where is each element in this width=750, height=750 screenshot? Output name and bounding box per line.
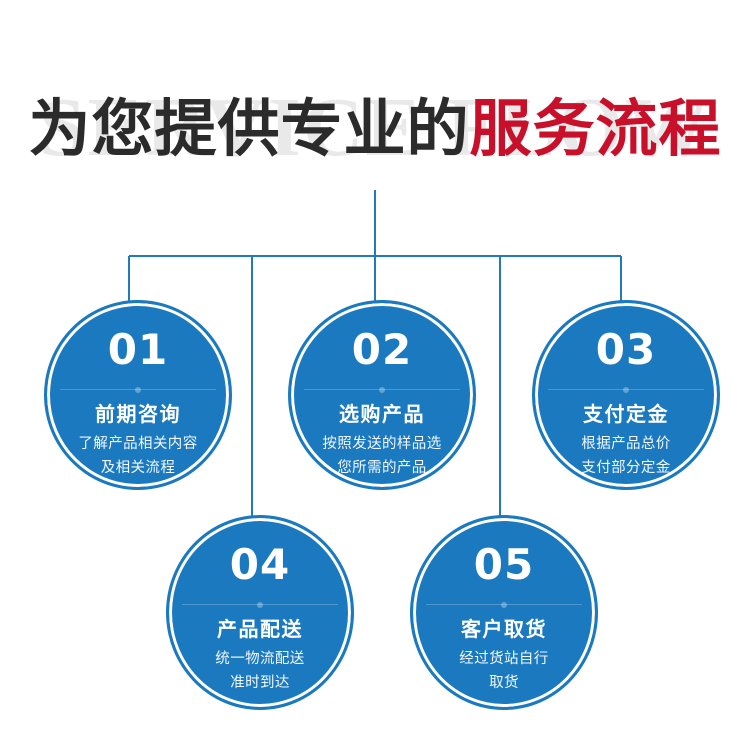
step-number: 01 bbox=[108, 329, 168, 371]
step-number: 02 bbox=[352, 329, 412, 371]
service-flow-infographic: SERVICE FLOW 为您提供专业的服务流程 01 前期咨询 了解产品相关内… bbox=[0, 0, 750, 750]
step-divider bbox=[304, 389, 461, 390]
page-title-red-part: 服务流程 bbox=[470, 95, 722, 164]
step-divider bbox=[548, 389, 705, 390]
step-circle-01[interactable]: 01 前期咨询 了解产品相关内容 及相关流程 bbox=[44, 300, 232, 490]
step-number: 05 bbox=[474, 544, 534, 586]
step-description: 根据产品总价 支付部分定金 bbox=[569, 433, 682, 481]
step-divider bbox=[426, 604, 583, 605]
step-description: 了解产品相关内容 及相关流程 bbox=[66, 433, 209, 481]
step-title: 产品配送 bbox=[217, 619, 303, 641]
page-title-dark-part: 为您提供专业的 bbox=[28, 95, 469, 164]
step-number: 04 bbox=[230, 544, 290, 586]
step-description: 经过货站自行 取货 bbox=[447, 648, 560, 696]
step-description: 按照发送的样品选 您所需的产品 bbox=[310, 433, 453, 481]
step-divider bbox=[182, 604, 339, 605]
step-title: 选购产品 bbox=[339, 404, 425, 426]
step-number: 03 bbox=[596, 329, 656, 371]
step-title: 支付定金 bbox=[583, 404, 669, 426]
step-title: 前期咨询 bbox=[95, 404, 181, 426]
step-divider bbox=[60, 389, 217, 390]
step-title: 客户取货 bbox=[461, 619, 547, 641]
step-circle-03[interactable]: 03 支付定金 根据产品总价 支付部分定金 bbox=[532, 300, 720, 490]
step-circle-02[interactable]: 02 选购产品 按照发送的样品选 您所需的产品 bbox=[288, 300, 476, 490]
step-circle-05[interactable]: 05 客户取货 经过货站自行 取货 bbox=[410, 515, 598, 710]
header-title-block: SERVICE FLOW 为您提供专业的服务流程 bbox=[0, 78, 750, 188]
step-description: 统一物流配送 准时到达 bbox=[203, 648, 316, 696]
step-circle-04[interactable]: 04 产品配送 统一物流配送 准时到达 bbox=[166, 515, 354, 710]
page-title: 为您提供专业的服务流程 bbox=[0, 92, 750, 168]
